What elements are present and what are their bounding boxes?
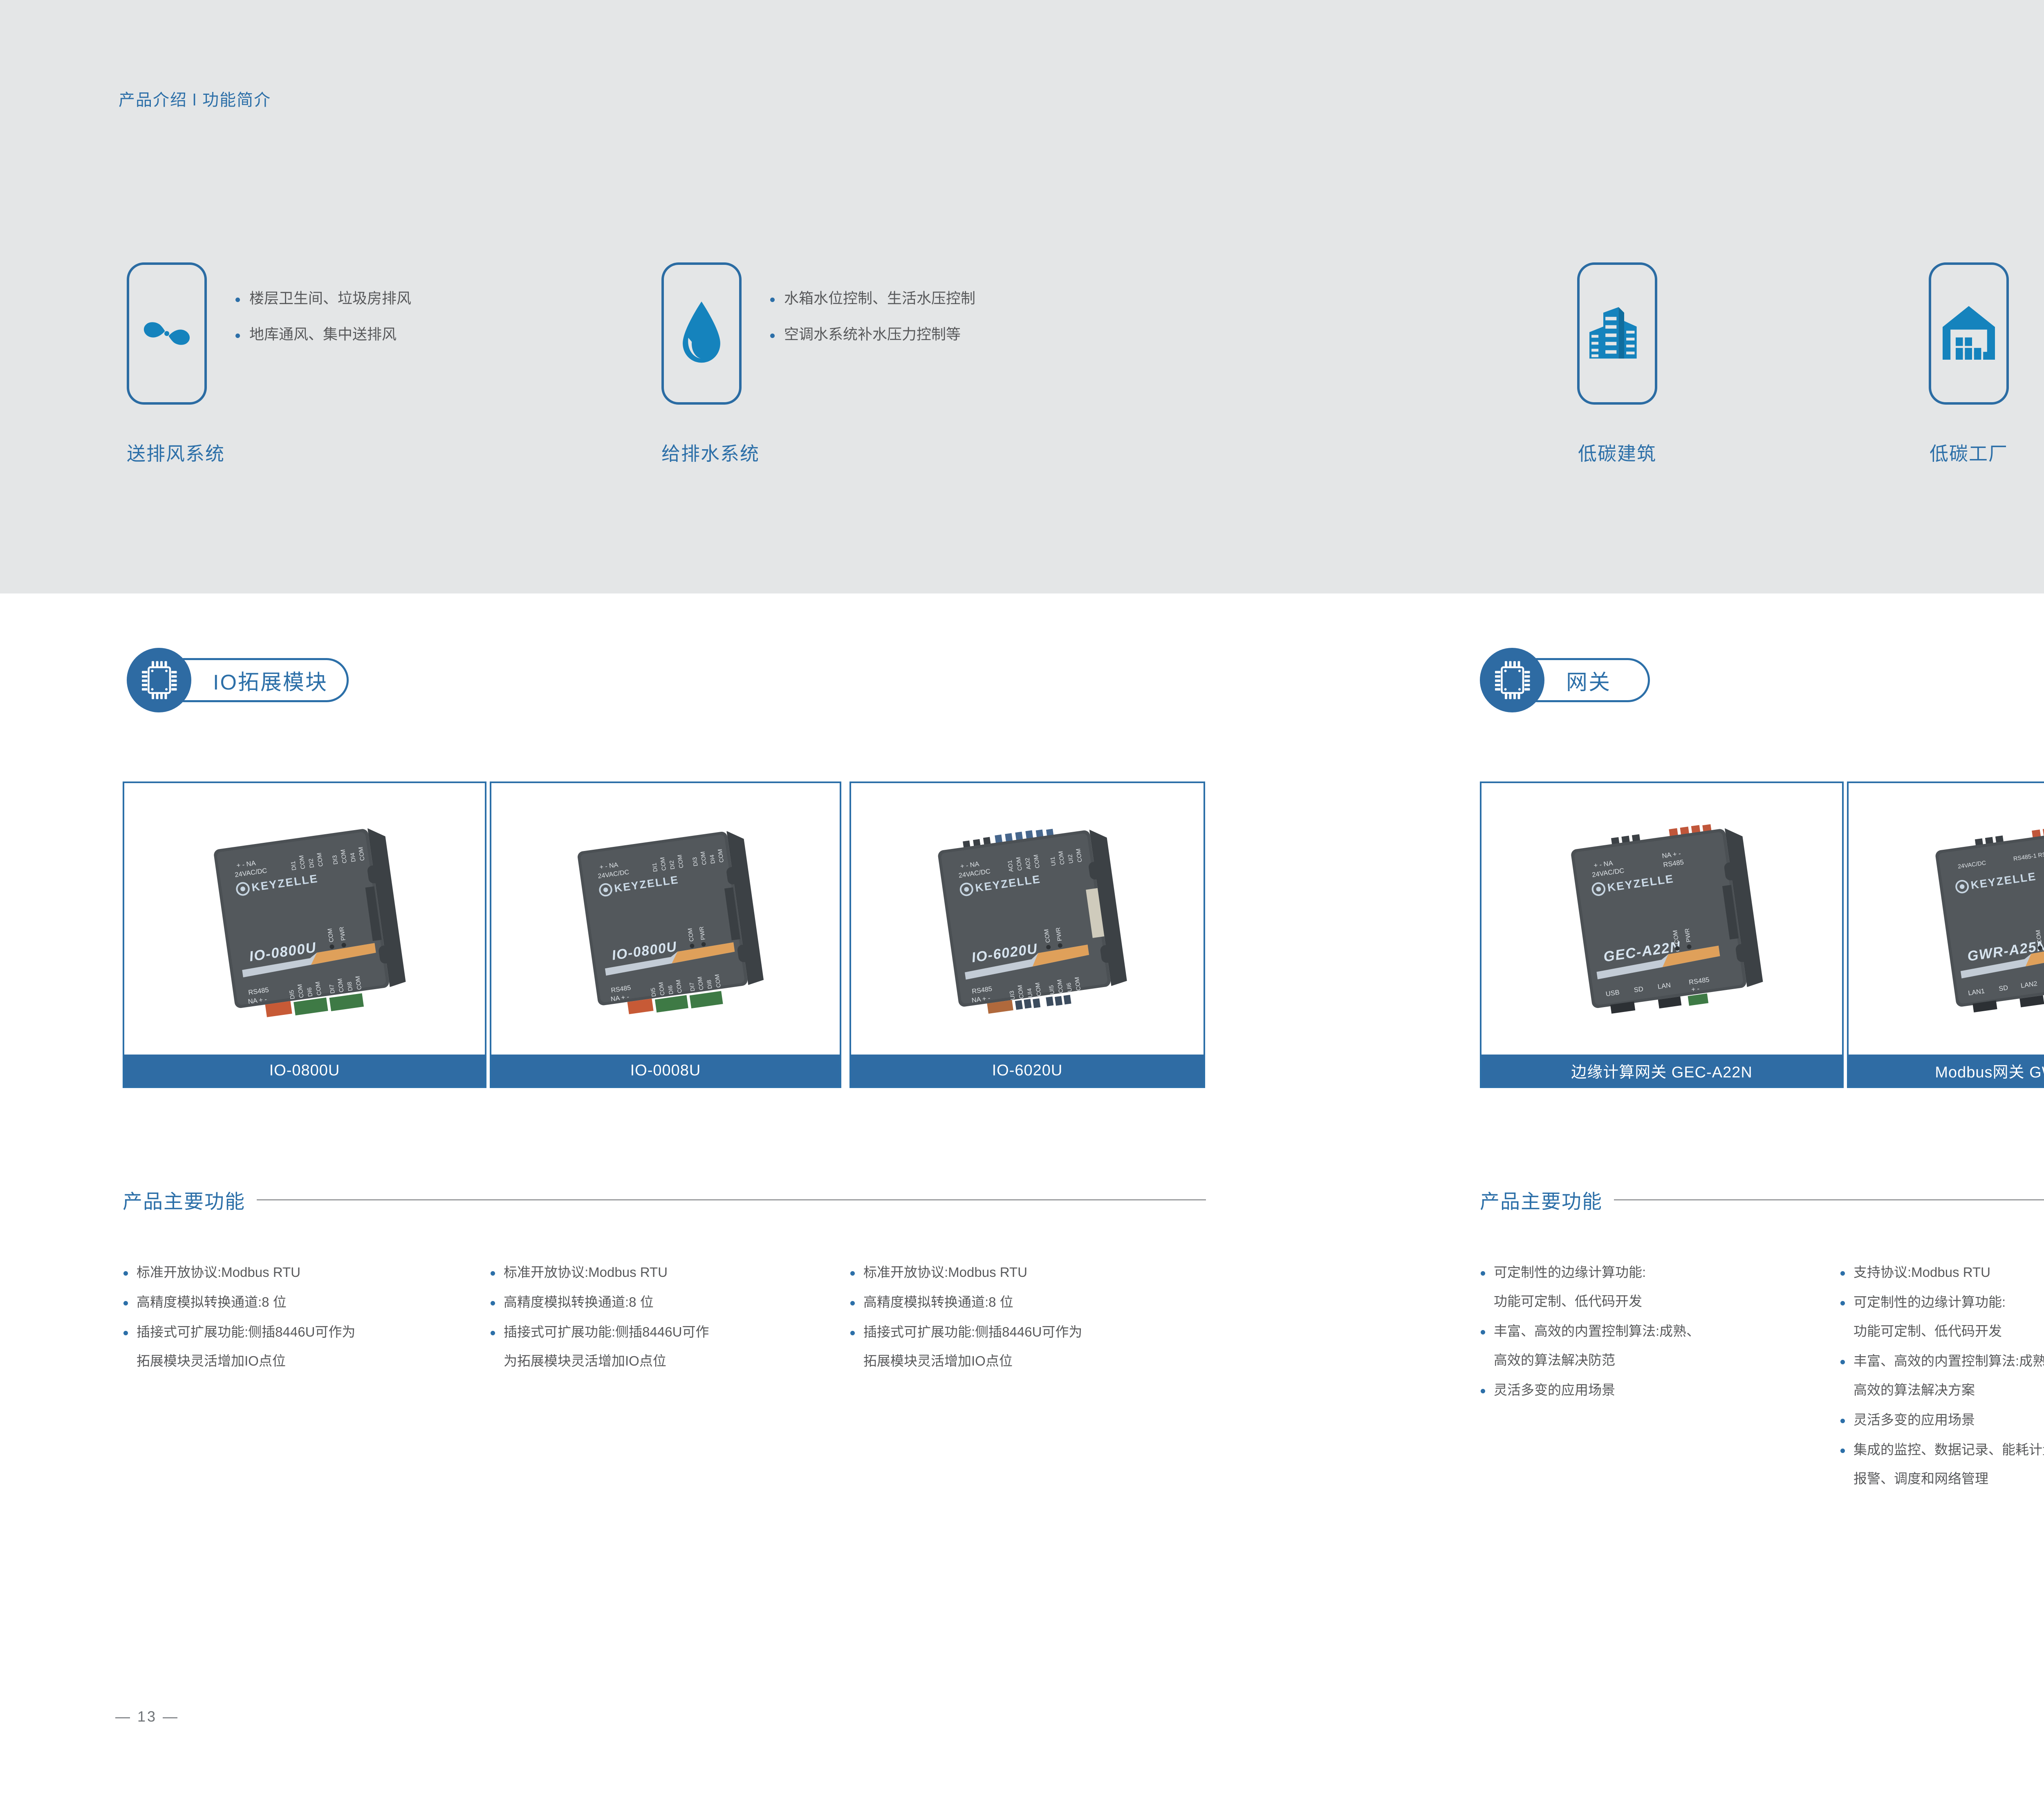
factory-icon — [1936, 297, 2001, 370]
water-drop-icon-frame — [661, 262, 742, 405]
io-module-device-illustration: + - NA 24VAC/DC DI1COM DI2COM DI3COM DI4… — [170, 804, 439, 1033]
product-image: 24VAC/DC RS485-1 RS485-2 KEYZELLE GWR-A2… — [1849, 783, 2044, 1055]
product-caption: IO-0800U — [124, 1055, 485, 1086]
svg-text:DI7: DI7 — [329, 984, 336, 994]
wrapped-line: 功能可定制、低代码开发 — [1494, 1294, 1819, 1308]
svg-text:DI3: DI3 — [692, 857, 699, 867]
list-item: 插接式可扩展功能:侧插8446U可作为拓展模块灵活增加IO点位 — [490, 1325, 837, 1368]
product-caption: Modbus网关 GWR-A25N — [1849, 1055, 2044, 1086]
section-badge-io-modules: IO拓展模块 — [127, 648, 349, 712]
product-card[interactable]: + - NA 24VAC/DC AO1COM AO2COM UI1COM UI2… — [849, 781, 1205, 1088]
product-caption: 边缘计算网关 GEC-A22N — [1481, 1055, 1842, 1086]
functions-title: 产品主要功能 — [123, 1185, 245, 1214]
list-item: 标准开放协议:Modbus RTU — [490, 1265, 837, 1279]
product-caption: IO-0008U — [491, 1055, 840, 1086]
list-item: 丰富、高效的内置控制算法:成熟、高效的算法解决防范 — [1480, 1324, 1819, 1367]
svg-text:DI5: DI5 — [650, 987, 657, 997]
wrapped-text: 可定制性的边缘计算功能: 功能可定制、低代码开发 — [1494, 1265, 1819, 1308]
svg-text:DI4: DI4 — [350, 852, 357, 862]
list-item: 高精度模拟转换通道:8 位 — [849, 1295, 1209, 1309]
svg-text:UI6: UI6 — [1066, 982, 1074, 992]
section-title-io-modules: IO拓展模块 — [213, 665, 328, 696]
wrapped-text: 集成的监控、数据记录、能耗计量、报警、调度和网络管理 — [1853, 1442, 2044, 1485]
water-drop-icon — [677, 299, 726, 368]
water-supply-bullets: 水箱水位控制、生活水压控制 空调水系统补水压力控制等 — [769, 291, 1136, 363]
svg-text:DI4: DI4 — [709, 854, 717, 864]
chip-icon-circle — [127, 648, 191, 712]
list-item: 灵活多变的应用场景 — [1840, 1413, 2044, 1426]
list-item: 插接式可扩展功能:侧插8446U可作为拓展模块灵活增加IO点位 — [849, 1325, 1209, 1368]
functions-heading-gateway: 产品主要功能 — [1480, 1185, 2044, 1214]
fan-icon — [136, 301, 197, 366]
io-module-device-illustration: + - NA 24VAC/DC AO1COM AO2COM UI1COM UI2… — [894, 804, 1160, 1033]
wrapped-text: 插接式可扩展功能:侧插8446U可作为拓展模块灵活增加IO点位 — [504, 1324, 837, 1368]
product-card[interactable]: 24VAC/DC RS485-1 RS485-2 KEYZELLE GWR-A2… — [1847, 781, 2044, 1088]
list-item: 集成的监控、数据记录、能耗计量、报警、调度和网络管理 — [1840, 1443, 2044, 1485]
factory-icon-frame — [1929, 262, 2009, 405]
gateway-device-illustration: + - NA 24VAC/DC NA + - RS485 KEYZELLE GE… — [1527, 804, 1797, 1033]
svg-text:DI1: DI1 — [651, 862, 659, 872]
list-item: 标准开放协议:Modbus RTU — [123, 1265, 470, 1279]
scene-label-low-carbon-building: 低碳建筑 — [1578, 439, 1656, 466]
list-item: 楼层卫生间、垃圾房排风 — [234, 291, 602, 306]
product-caption: IO-6020U — [851, 1055, 1204, 1086]
product-card[interactable]: + - NA 24VAC/DC NA + - RS485 KEYZELLE GE… — [1480, 781, 1844, 1088]
functions-heading-io: 产品主要功能 — [123, 1185, 1206, 1214]
feature-label-water-supply: 给排水系统 — [661, 439, 760, 466]
office-buildings-icon-frame — [1577, 262, 1657, 405]
svg-text:SD: SD — [1634, 985, 1644, 994]
chip-icon-circle — [1480, 648, 1544, 712]
product-image: + - NA 24VAC/DC DI1COM DI2COM DI3COM DI4… — [124, 783, 485, 1055]
scene-low-carbon-factory: 低碳工厂 — [1929, 262, 2009, 405]
functions-column: 标准开放协议:Modbus RTU 高精度模拟转换通道:8 位 插接式可扩展功能… — [849, 1265, 1209, 1384]
product-image: + - NA 24VAC/DC NA + - RS485 KEYZELLE GE… — [1481, 783, 1842, 1055]
functions-column: 支持协议:Modbus RTU 可定制性的边缘计算功能:功能可定制、低代码开发 … — [1840, 1265, 2044, 1502]
wrapped-line: 拓展模块灵活增加IO点位 — [137, 1354, 470, 1368]
product-image: + - NA 24VAC/DC DI1COM DI2COM DI3COM DI4… — [491, 783, 840, 1055]
svg-text:DI2: DI2 — [308, 858, 316, 868]
chip-icon — [140, 661, 178, 700]
chip-icon — [1493, 661, 1531, 700]
svg-text:DI8: DI8 — [706, 979, 714, 989]
functions-column: 可定制性的边缘计算功能: 功能可定制、低代码开发 丰富、高效的内置控制算法:成熟… — [1480, 1265, 1819, 1413]
wrapped-line: 拓展模块灵活增加IO点位 — [863, 1354, 1209, 1368]
wrapped-text: 丰富、高效的内置控制算法:成熟、高效的算法解决方案 — [1853, 1353, 2044, 1397]
section-title-gateway: 网关 — [1566, 665, 1611, 696]
section-badge-gateway: 网关 — [1480, 648, 1650, 712]
list-item: 丰富、高效的内置控制算法:成熟、高效的算法解决方案 — [1840, 1354, 2044, 1397]
svg-text:DI8: DI8 — [346, 981, 354, 992]
list-item: 标准开放协议:Modbus RTU — [849, 1265, 1209, 1279]
wrapped-text: 插接式可扩展功能:侧插8446U可作为拓展模块灵活增加IO点位 — [137, 1324, 470, 1368]
wrapped-text: 丰富、高效的内置控制算法:成熟、高效的算法解决防范 — [1494, 1323, 1819, 1367]
svg-text:DI3: DI3 — [332, 855, 339, 865]
svg-text:DI5: DI5 — [289, 990, 296, 1000]
list-item: 灵活多变的应用场景 — [1480, 1383, 1819, 1397]
wrapped-line: 高效的算法解决方案 — [1853, 1383, 2044, 1397]
spread-page: 产品介绍 l 功能简介 产品介绍 l 功能简介 楼层卫生间、垃圾房排风 地库通风… — [0, 0, 2044, 1798]
wrapped-line: 高效的算法解决防范 — [1494, 1353, 1819, 1367]
list-item: 高精度模拟转换通道:8 位 — [123, 1295, 470, 1309]
heading-rule — [1614, 1199, 2044, 1200]
list-item: 空调水系统补水压力控制等 — [769, 327, 1136, 342]
list-item: 高精度模拟转换通道:8 位 — [490, 1295, 837, 1309]
office-buildings-icon — [1582, 295, 1652, 372]
svg-text:UI2: UI2 — [1067, 854, 1075, 864]
list-item: 可定制性的边缘计算功能:功能可定制、低代码开发 — [1840, 1295, 2044, 1338]
svg-text:DI6: DI6 — [667, 985, 675, 995]
svg-text:UI5: UI5 — [1048, 985, 1056, 994]
wrapped-line: 功能可定制、低代码开发 — [1853, 1324, 2044, 1338]
functions-column: 标准开放协议:Modbus RTU 高精度模拟转换通道:8 位 插接式可扩展功能… — [490, 1265, 837, 1384]
product-card[interactable]: + - NA 24VAC/DC DI1COM DI2COM DI3COM DI4… — [490, 781, 841, 1088]
svg-text:DI2: DI2 — [668, 860, 676, 870]
list-item: 水箱水位控制、生活水压控制 — [769, 291, 1136, 306]
list-item: 支持协议:Modbus RTU — [1840, 1265, 2044, 1279]
svg-text:UI1: UI1 — [1049, 856, 1057, 866]
gateway-device-illustration: 24VAC/DC RS485-1 RS485-2 KEYZELLE GWR-A2… — [1892, 804, 2044, 1033]
running-head-left: 产品介绍 l 功能简介 — [119, 87, 271, 110]
svg-text:SD: SD — [1998, 984, 2008, 993]
scene-low-carbon-building: 低碳建筑 — [1577, 262, 1657, 405]
page-number-left: — 13 — — [115, 1708, 179, 1725]
wrapped-text: 插接式可扩展功能:侧插8446U可作为拓展模块灵活增加IO点位 — [863, 1324, 1209, 1368]
wrapped-line: 报警、调度和网络管理 — [1853, 1472, 2044, 1485]
svg-text:DI6: DI6 — [306, 987, 314, 997]
list-item: 插接式可扩展功能:侧插8446U可作为拓展模块灵活增加IO点位 — [123, 1325, 470, 1368]
svg-text:UI4: UI4 — [1026, 988, 1034, 998]
svg-text:UI3: UI3 — [1009, 990, 1016, 1000]
list-item: 地库通风、集中送排风 — [234, 327, 602, 342]
heading-rule — [257, 1199, 1206, 1200]
scene-label-low-carbon-factory: 低碳工厂 — [1930, 439, 2008, 466]
feature-ventilation: 楼层卫生间、垃圾房排风 地库通风、集中送排风 送排风系统 — [127, 262, 207, 405]
wrapped-text: 可定制性的边缘计算功能:功能可定制、低代码开发 — [1853, 1294, 2044, 1338]
product-card[interactable]: + - NA 24VAC/DC DI1COM DI2COM DI3COM DI4… — [123, 781, 486, 1088]
feature-water-supply: 水箱水位控制、生活水压控制 空调水系统补水压力控制等 给排水系统 — [661, 262, 742, 405]
functions-title: 产品主要功能 — [1480, 1185, 1602, 1214]
io-module-device-illustration: + - NA 24VAC/DC DI1COM DI2COM DI3COM DI4… — [535, 804, 796, 1033]
svg-text:+ -: + - — [1691, 985, 1700, 994]
functions-column: 标准开放协议:Modbus RTU 高精度模拟转换通道:8 位 插接式可扩展功能… — [123, 1265, 470, 1384]
list-item: 可定制性的边缘计算功能: 功能可定制、低代码开发 — [1480, 1265, 1819, 1308]
svg-text:DI7: DI7 — [689, 982, 697, 992]
fan-icon-frame — [127, 262, 207, 405]
wrapped-line: 为拓展模块灵活增加IO点位 — [504, 1354, 837, 1368]
svg-text:DI1: DI1 — [290, 861, 298, 871]
product-image: + - NA 24VAC/DC AO1COM AO2COM UI1COM UI2… — [851, 783, 1204, 1055]
ventilation-bullets: 楼层卫生间、垃圾房排风 地库通风、集中送排风 — [234, 291, 602, 363]
feature-label-ventilation: 送排风系统 — [127, 439, 225, 466]
